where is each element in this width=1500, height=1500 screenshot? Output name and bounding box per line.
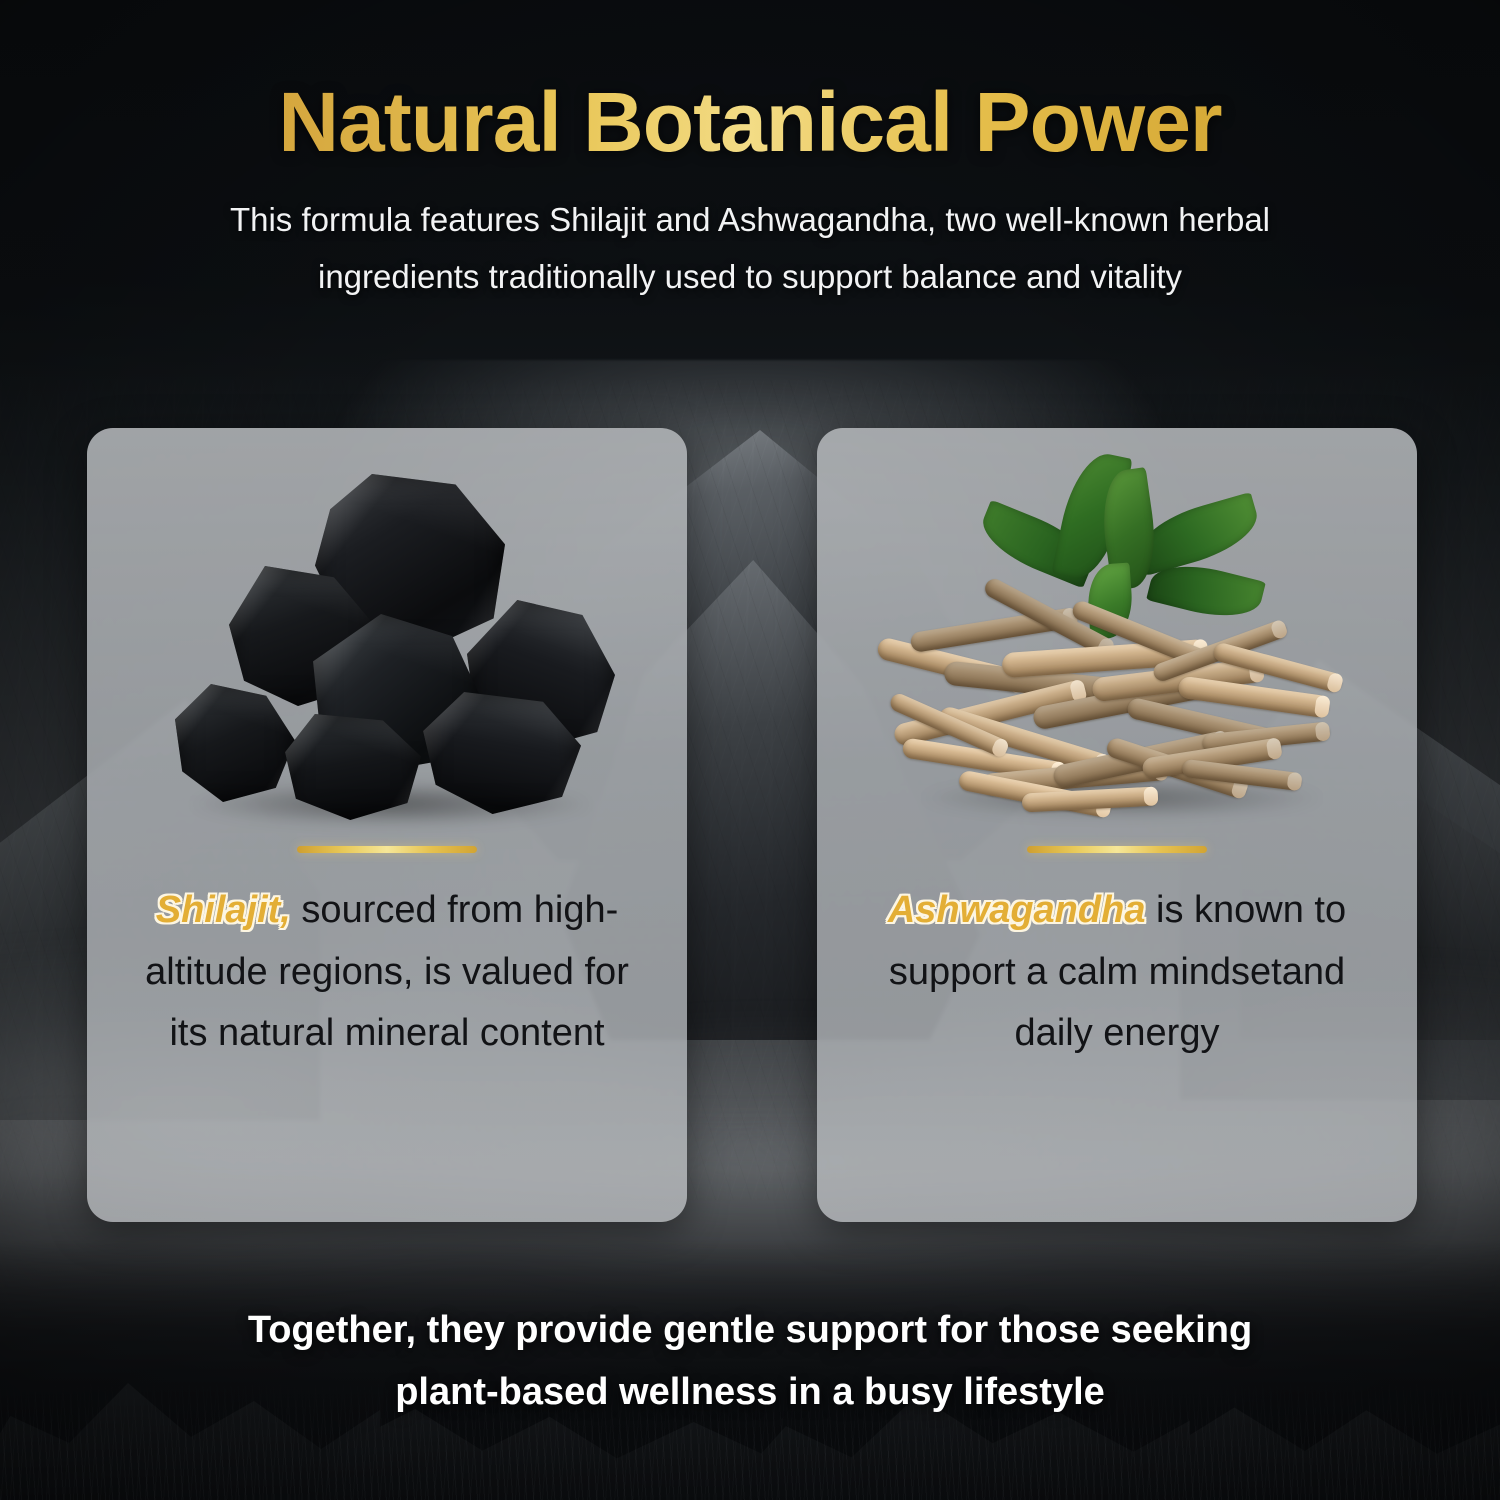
subtitle-line-2: ingredients traditionally used to suppor… <box>318 258 1182 295</box>
ashwagandha-description: Ashwagandha is known to support a calm m… <box>851 880 1383 1065</box>
page-subtitle: This formula features Shilajit and Ashwa… <box>150 192 1350 306</box>
root-cluster <box>882 598 1352 814</box>
shilajit-description: Shilajit, sourced from high-altitude reg… <box>121 880 653 1065</box>
gold-divider <box>297 846 477 853</box>
ingredient-cards-row: Shilajit, sourced from high-altitude reg… <box>87 428 1418 1222</box>
rock-chunk <box>175 684 295 802</box>
gold-divider <box>1027 846 1207 853</box>
promo-graphic: Natural Botanical Power This formula fea… <box>0 0 1500 1500</box>
ashwagandha-roots-photo <box>817 428 1417 838</box>
ingredient-card-ashwagandha[interactable]: Ashwagandha is known to support a calm m… <box>817 428 1417 1222</box>
footer-line-1: Together, they provide gentle support fo… <box>0 1300 1500 1362</box>
shilajit-rocks-photo <box>87 428 687 838</box>
footer-line-2: plant-based wellness in a busy lifestyle <box>0 1362 1500 1424</box>
page-title: Natural Botanical Power <box>0 78 1500 166</box>
subtitle-line-1: This formula features Shilajit and Ashwa… <box>230 201 1270 238</box>
footer-block: Together, they provide gentle support fo… <box>0 1300 1500 1423</box>
ingredient-card-shilajit[interactable]: Shilajit, sourced from high-altitude reg… <box>87 428 687 1222</box>
header-block: Natural Botanical Power This formula fea… <box>0 78 1500 306</box>
rock-pile <box>167 470 607 810</box>
shilajit-highlight: Shilajit, <box>156 889 291 931</box>
root-pile <box>882 446 1352 826</box>
ashwagandha-highlight: Ashwagandha <box>888 889 1146 931</box>
